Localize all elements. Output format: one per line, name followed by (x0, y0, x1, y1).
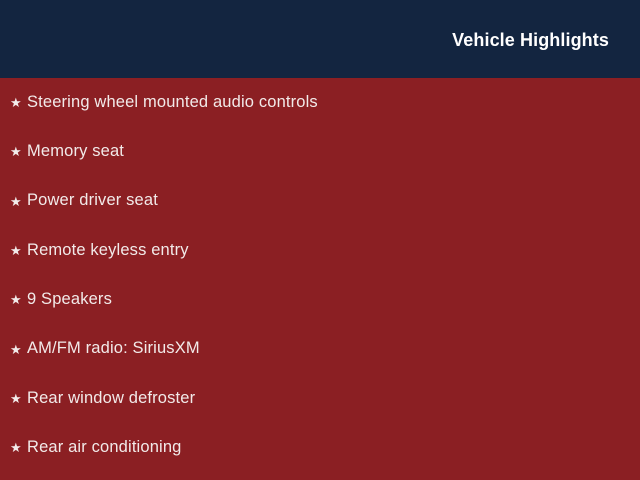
vehicle-highlights-slide: Vehicle Highlights ★ Steering wheel moun… (0, 0, 640, 480)
star-bullet-icon: ★ (10, 145, 27, 158)
star-bullet-icon: ★ (10, 343, 27, 356)
list-item: ★ Rear window defroster (0, 374, 640, 423)
star-bullet-icon: ★ (10, 392, 27, 405)
list-item: ★ 9 Speakers (0, 275, 640, 324)
list-item: ★ Memory seat (0, 127, 640, 176)
highlight-label: Remote keyless entry (27, 241, 189, 261)
highlight-label: Rear window defroster (27, 389, 195, 409)
vehicle-highlights-list: ★ Steering wheel mounted audio controls … (0, 78, 640, 480)
list-item: ★ Steering wheel mounted audio controls (0, 78, 640, 127)
list-item: ★ Rear air conditioning (0, 423, 640, 472)
header-bar: Vehicle Highlights (0, 0, 640, 78)
highlight-label: 9 Speakers (27, 290, 112, 310)
list-item: ★ AM/FM radio: SiriusXM (0, 324, 640, 373)
page-title: Vehicle Highlights (452, 31, 609, 49)
highlight-label: AM/FM radio: SiriusXM (27, 339, 200, 359)
star-bullet-icon: ★ (10, 96, 27, 109)
highlight-label: Power driver seat (27, 191, 158, 211)
highlight-label: Steering wheel mounted audio controls (27, 93, 318, 113)
highlight-label: Memory seat (27, 142, 124, 162)
star-bullet-icon: ★ (10, 195, 27, 208)
star-bullet-icon: ★ (10, 244, 27, 257)
list-item: ★ Power driver seat (0, 177, 640, 226)
highlight-label: Rear air conditioning (27, 438, 182, 458)
star-bullet-icon: ★ (10, 441, 27, 454)
list-item: ★ Remote keyless entry (0, 226, 640, 275)
star-bullet-icon: ★ (10, 293, 27, 306)
